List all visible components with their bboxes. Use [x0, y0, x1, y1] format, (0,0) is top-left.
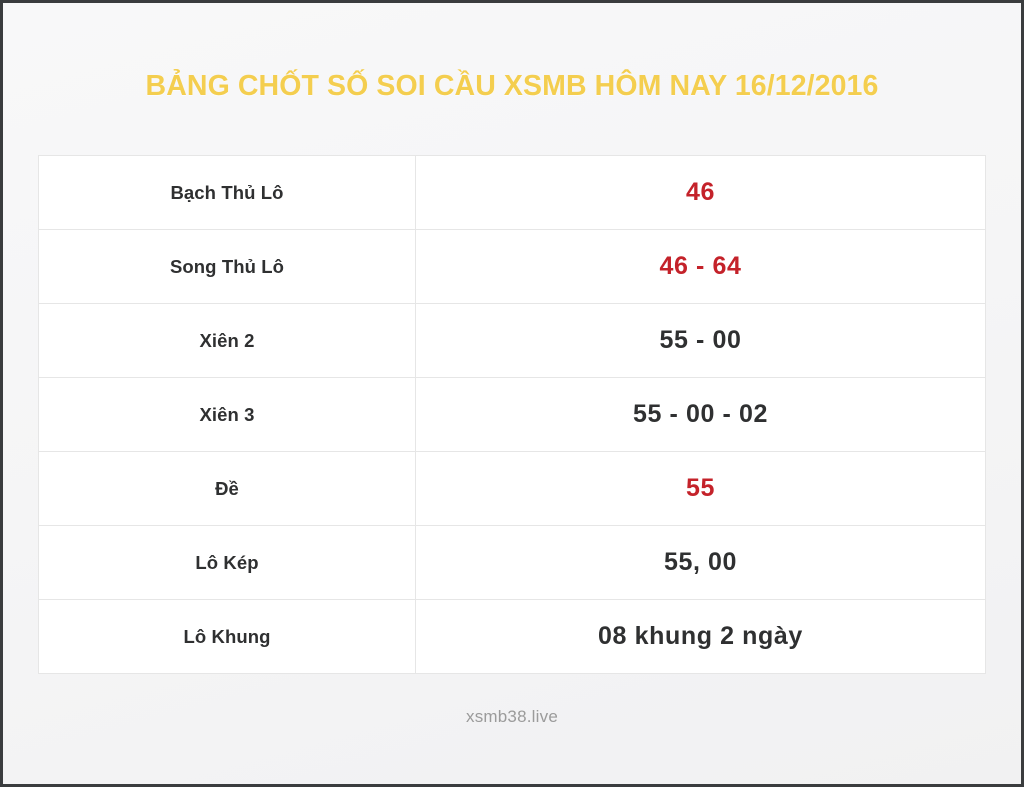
table-row: Bạch Thủ Lô46	[39, 156, 985, 230]
bet-type-label: Bạch Thủ Lô	[170, 182, 283, 204]
bet-type-label: Đề	[215, 478, 239, 500]
table-row: Xiên 355 - 00 - 02	[39, 378, 985, 452]
header: BẢNG CHỐT SỐ SOI CẦU XSMB HÔM NAY 16/12/…	[3, 3, 1021, 155]
prediction-number: 55, 00	[664, 548, 737, 577]
bet-type-label: Xiên 2	[199, 330, 254, 352]
footer: xsmb38.live	[3, 674, 1021, 784]
table-cell-value: 55, 00	[416, 526, 985, 599]
prediction-number: 46	[686, 178, 715, 207]
prediction-number: 46 - 64	[659, 252, 741, 281]
bet-type-label: Lô Kép	[195, 552, 258, 574]
prediction-number: 55 - 00	[659, 326, 741, 355]
prediction-table: Bạch Thủ Lô46Song Thủ Lô46 - 64Xiên 255 …	[38, 155, 986, 674]
table-cell-value: 55 - 00	[416, 304, 985, 377]
table-row: Lô Kép55, 00	[39, 526, 985, 600]
bet-type-label: Lô Khung	[183, 626, 270, 648]
table-cell-label: Lô Kép	[39, 526, 416, 599]
prediction-number: 55	[686, 474, 715, 503]
site-watermark: xsmb38.live	[466, 707, 558, 727]
table-cell-value: 08 khung 2 ngày	[416, 600, 985, 673]
bet-type-label: Song Thủ Lô	[170, 256, 284, 278]
table-cell-label: Lô Khung	[39, 600, 416, 673]
table-row: Xiên 255 - 00	[39, 304, 985, 378]
table-cell-value: 46	[416, 156, 985, 229]
page-title: BẢNG CHỐT SỐ SOI CẦU XSMB HÔM NAY 16/12/…	[146, 70, 879, 103]
table-cell-label: Đề	[39, 452, 416, 525]
page-frame: BẢNG CHỐT SỐ SOI CẦU XSMB HÔM NAY 16/12/…	[0, 0, 1024, 787]
table-row: Song Thủ Lô46 - 64	[39, 230, 985, 304]
table-cell-value: 46 - 64	[416, 230, 985, 303]
table-row: Lô Khung08 khung 2 ngày	[39, 600, 985, 674]
table-cell-label: Song Thủ Lô	[39, 230, 416, 303]
table-cell-label: Xiên 3	[39, 378, 416, 451]
page-canvas: BẢNG CHỐT SỐ SOI CẦU XSMB HÔM NAY 16/12/…	[3, 3, 1021, 784]
table-row: Đề55	[39, 452, 985, 526]
table-cell-value: 55	[416, 452, 985, 525]
bet-type-label: Xiên 3	[199, 404, 254, 426]
prediction-number: 08 khung 2 ngày	[598, 622, 803, 651]
table-cell-label: Bạch Thủ Lô	[39, 156, 416, 229]
table-cell-label: Xiên 2	[39, 304, 416, 377]
table-cell-value: 55 - 00 - 02	[416, 378, 985, 451]
prediction-number: 55 - 00 - 02	[633, 400, 768, 429]
